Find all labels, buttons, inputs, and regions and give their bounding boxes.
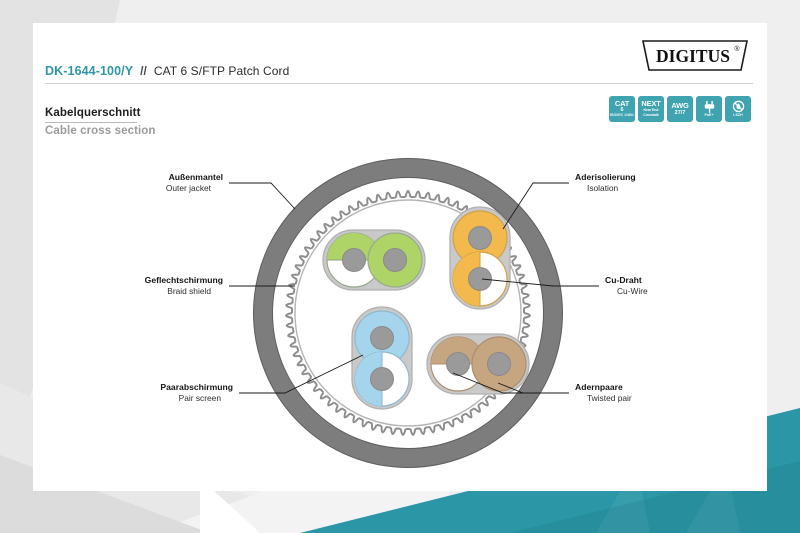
orange-wire-striped-conductor — [469, 268, 492, 291]
braid-strand — [519, 279, 520, 284]
braid-strand — [391, 198, 396, 199]
green-wire-solid-conductor — [384, 249, 407, 272]
outer-jacket-label-de: Außenmantel — [169, 172, 223, 182]
cu-wire-label-en: Cu-Wire — [617, 286, 648, 296]
outer-jacket-label-en: Outer jacket — [166, 183, 212, 193]
twisted-pair-label-en: Twisted pair — [587, 393, 632, 403]
orange-wire-striped — [453, 252, 507, 306]
isolation-label-de: Aderisolierung — [575, 172, 636, 182]
orange-pair — [450, 207, 510, 309]
pair-screen-label-en: Pair screen — [179, 393, 222, 403]
blue-wire-striped-conductor — [371, 368, 394, 391]
braid-strand — [293, 328, 294, 333]
blue-pair — [352, 307, 412, 409]
orange-wire-solid-conductor — [469, 227, 492, 250]
braid-strand — [521, 289, 522, 294]
cable-cross-section-diagram: Außenmantel Outer jacket Geflechtschirmu… — [33, 23, 767, 491]
braid-strand — [425, 427, 430, 428]
green-wire-solid — [368, 233, 422, 287]
pair-screen-label-de: Paarabschirmung — [160, 382, 233, 392]
slide-page: DIGITUS ® DK-1644-100/Y // CAT 6 S/FTP P… — [0, 0, 800, 533]
brown-wire-solid-conductor — [488, 353, 511, 376]
braid-strand — [295, 337, 296, 342]
outer-jacket-leader — [229, 183, 295, 209]
cu-wire-label-de: Cu-Draht — [605, 275, 642, 285]
isolation-label-en: Isolation — [587, 183, 619, 193]
braid-strand — [372, 201, 377, 202]
brown-wire-solid — [472, 337, 526, 391]
green-wire-striped-conductor — [343, 249, 366, 272]
braid-strand — [523, 298, 524, 303]
braid-shield-label-en: Braid shield — [167, 286, 211, 296]
blue-wire-solid-conductor — [371, 327, 394, 350]
outer-jacket-callout: Außenmantel Outer jacket — [166, 172, 295, 209]
twisted-pair-label-de: Adernpaare — [575, 382, 623, 392]
brown-pair — [427, 334, 529, 394]
braid-shield-label-de: Geflechtschirmung — [145, 275, 223, 285]
braid-strand — [434, 425, 439, 426]
green-pair — [323, 230, 425, 290]
braid-strand — [382, 199, 387, 200]
blue-wire-striped — [355, 352, 409, 406]
brown-wire-striped-conductor — [447, 353, 470, 376]
content-card: DIGITUS ® DK-1644-100/Y // CAT 6 S/FTP P… — [33, 23, 767, 491]
outer-jacket — [263, 168, 553, 458]
